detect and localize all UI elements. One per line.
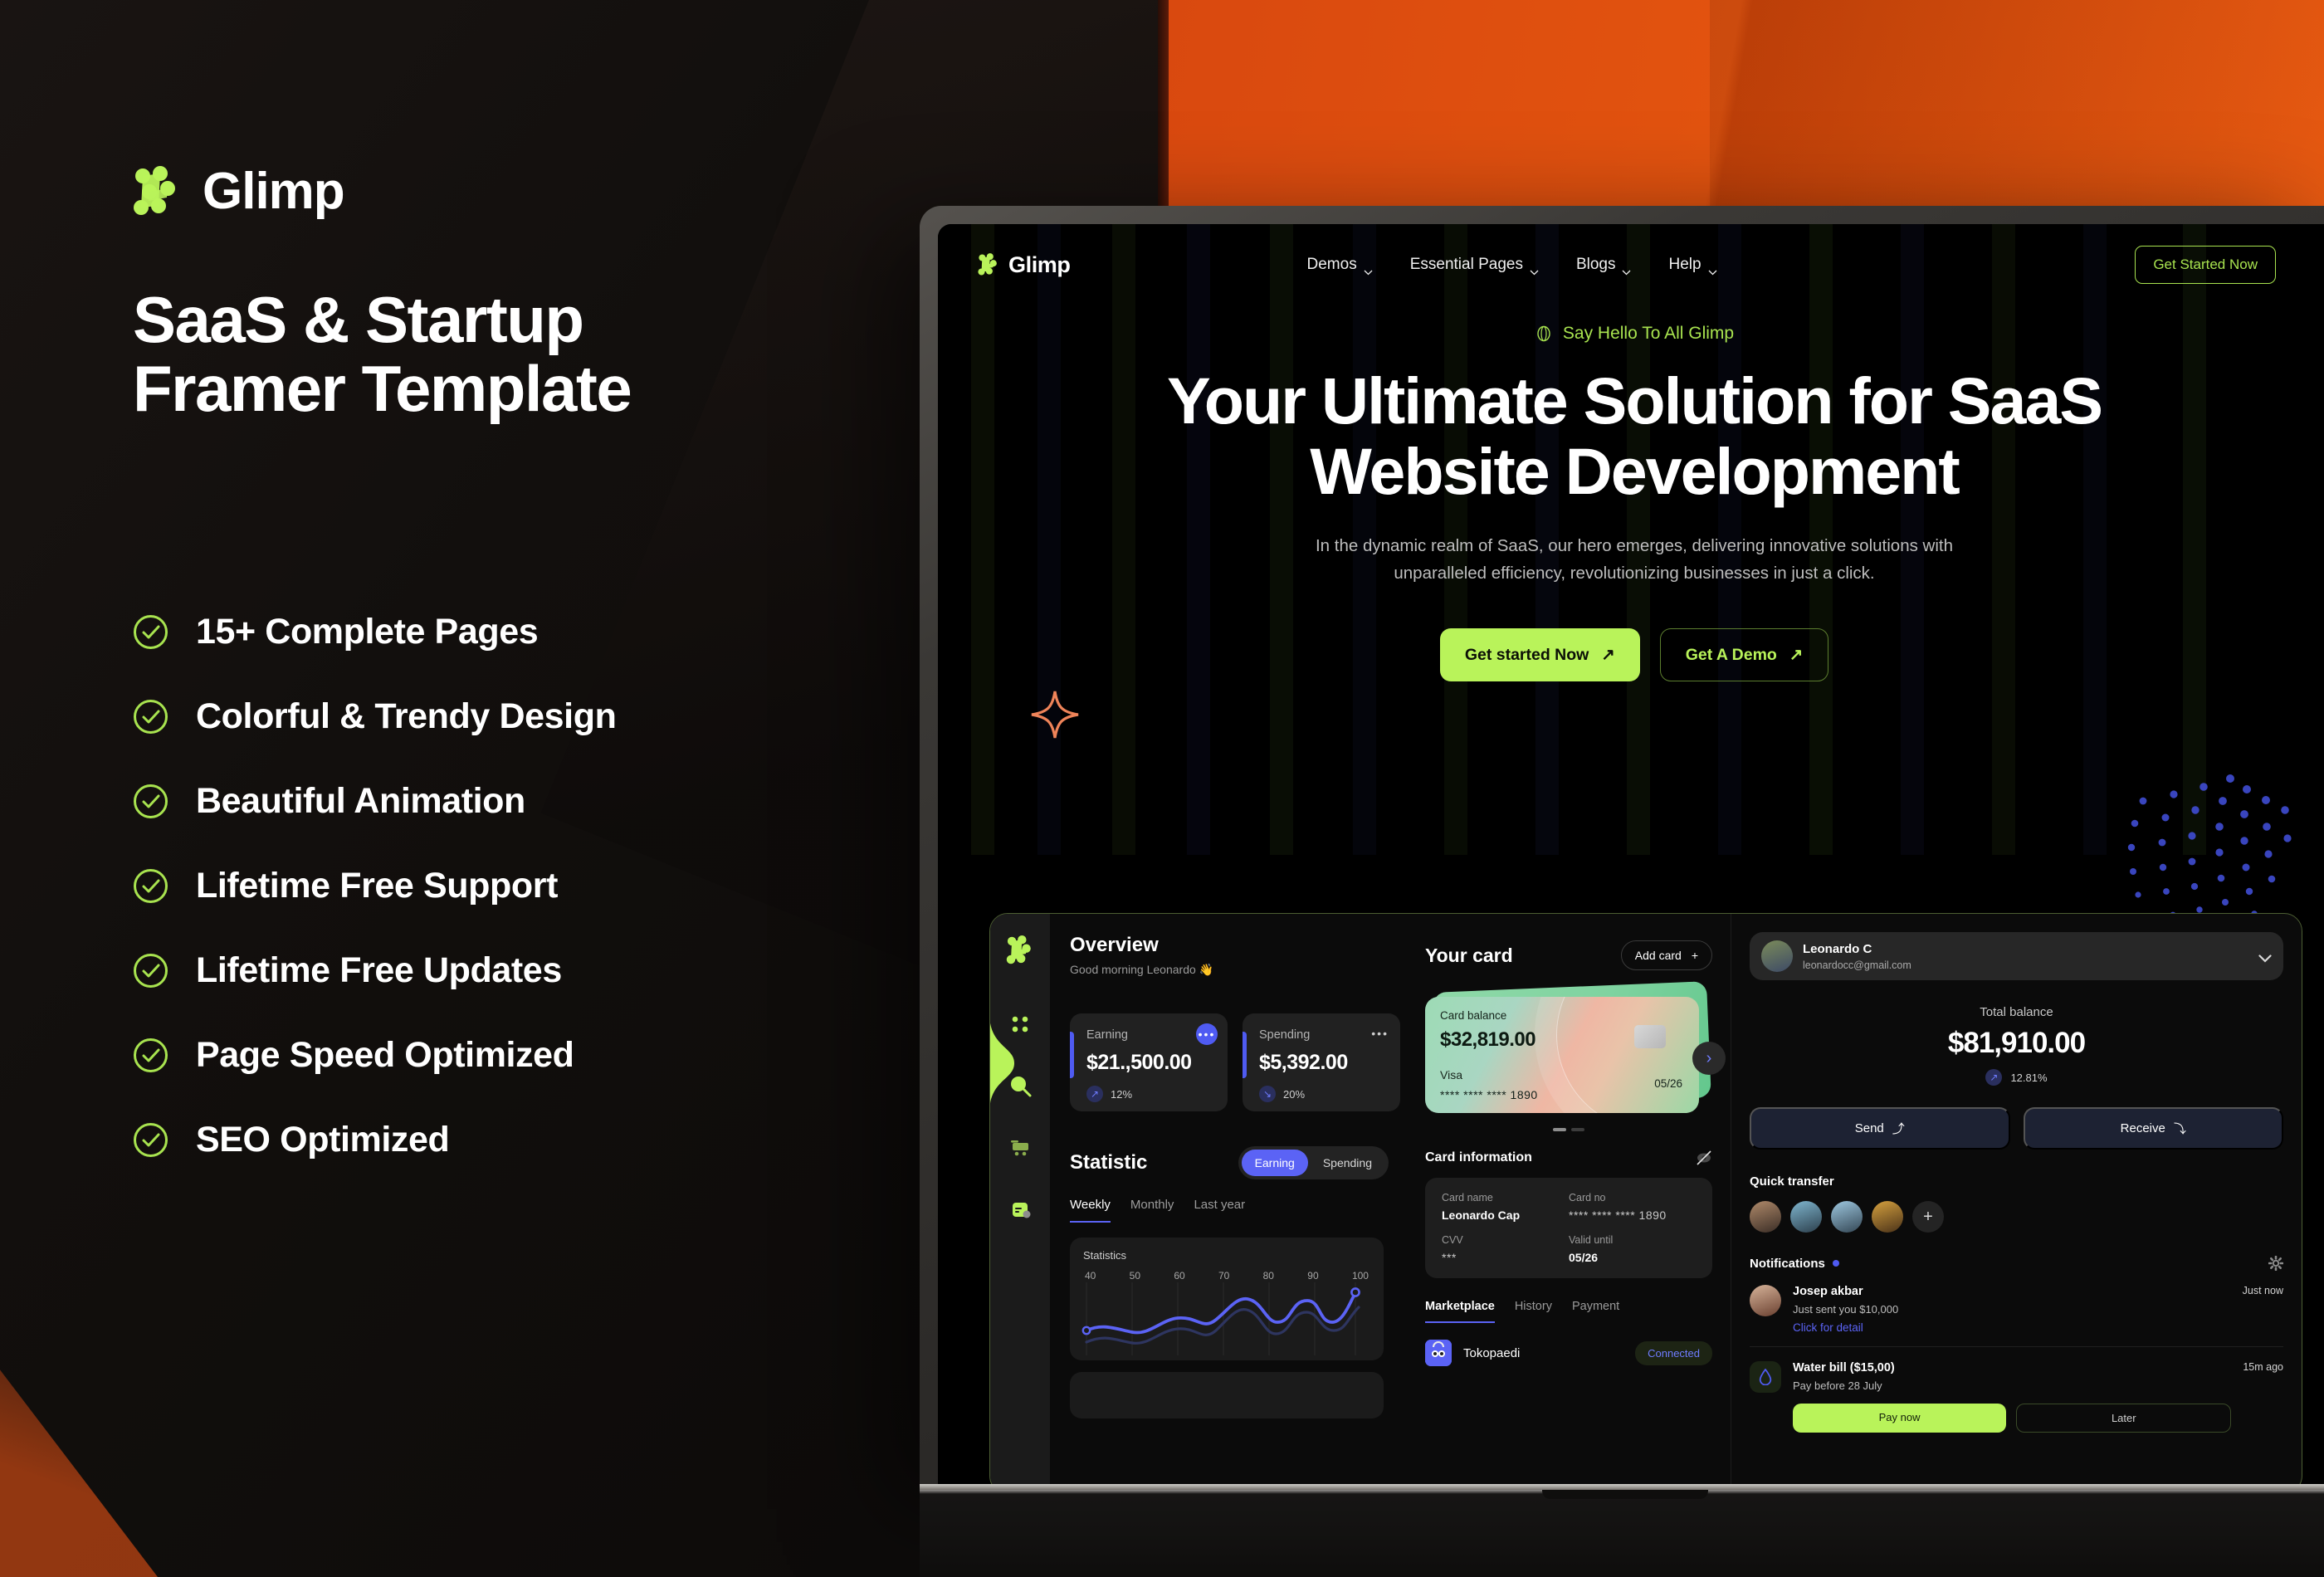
card-balance-value: $32,819.00: [1440, 1028, 1684, 1052]
send-receive-actions: Send ⤴ Receive ⤵: [1750, 1107, 2283, 1150]
button-label: Receive: [2121, 1121, 2165, 1135]
field-value: ***: [1442, 1251, 1569, 1264]
stat-value: $21.,500.00: [1086, 1051, 1214, 1075]
axis-tick: 60: [1174, 1270, 1184, 1282]
stat-label: Earning: [1086, 1028, 1214, 1042]
total-balance-delta: ↗ 12.81%: [1750, 1069, 2283, 1086]
headline-line-2: Framer Template: [133, 354, 963, 423]
notification-title: Josep akbar: [1793, 1285, 2231, 1298]
tab-last-year[interactable]: Last year: [1194, 1198, 1245, 1223]
stat-card-earning[interactable]: Earning ••• $21.,500.00 ↗ 12%: [1070, 1013, 1228, 1111]
overview-greeting: Good morning Leonardo 👋: [1070, 963, 1407, 977]
list-item: Lifetime Free Support: [133, 866, 963, 906]
feature-label: Beautiful Animation: [196, 781, 525, 822]
button-label: Send: [1855, 1121, 1884, 1135]
nav-item-label: Blogs: [1576, 256, 1616, 274]
credit-card[interactable]: Card balance $32,819.00 Visa **** **** *…: [1425, 997, 1699, 1113]
hero-title: Your Ultimate Solution for SaaS Website …: [938, 365, 2324, 507]
arrow-up-right-icon: ↗: [1086, 1086, 1103, 1102]
check-circle-icon: [133, 1037, 168, 1073]
list-item[interactable]: Tokopaedi Connected: [1425, 1340, 1712, 1366]
later-button[interactable]: Later: [2016, 1404, 2231, 1433]
credit-card-carousel: Card balance $32,819.00 Visa **** **** *…: [1425, 990, 1712, 1115]
nav-item-label: Demos: [1307, 256, 1357, 274]
field-value: Leonardo Cap: [1442, 1208, 1569, 1222]
axis-tick: 80: [1263, 1270, 1274, 1282]
field-valid-until: Valid until 05/26: [1569, 1234, 1696, 1264]
arrow-down-right-icon: ↘: [1259, 1086, 1276, 1102]
field-key: Valid until: [1569, 1234, 1696, 1246]
carousel-dot[interactable]: [1571, 1128, 1584, 1131]
delta-value: 12.81%: [2010, 1072, 2047, 1084]
tab-payment[interactable]: Payment: [1572, 1300, 1619, 1323]
orange-panel: [1169, 0, 2324, 214]
field-key: Card no: [1569, 1192, 1696, 1203]
status-badge: Connected: [1635, 1341, 1712, 1365]
stat-delta: ↗ 12%: [1086, 1086, 1214, 1102]
axis-tick: 40: [1085, 1270, 1096, 1282]
hero-eyebrow-label: Say Hello To All Glimp: [1563, 324, 1734, 344]
nav-item-label: Essential Pages: [1410, 256, 1523, 274]
wallet-icon[interactable]: [1008, 1196, 1033, 1221]
axis-tick: 90: [1307, 1270, 1318, 1282]
field-key: CVV: [1442, 1234, 1569, 1246]
statistics-chart: Statistics 40 50 60 70 80 90 100: [1070, 1238, 1384, 1360]
pay-now-button[interactable]: Pay now: [1793, 1404, 2006, 1433]
button-label: Get A Demo: [1686, 646, 1777, 665]
avatar: [1750, 1285, 1781, 1316]
list-item: Lifetime Free Updates: [133, 950, 963, 991]
card-information-title: Card information: [1425, 1150, 1532, 1165]
list-item: SEO Optimized: [133, 1120, 963, 1160]
hero-title-line-2: Website Development: [938, 436, 2324, 506]
list-item: 15+ Complete Pages: [133, 612, 963, 652]
stat-delta: ↘ 20%: [1259, 1086, 1387, 1102]
statistic-tabs: Weekly Monthly Last year: [1070, 1198, 1407, 1223]
check-circle-icon: [133, 614, 168, 650]
glimp-logo-icon: [978, 253, 999, 276]
field-card-name: Card name Leonardo Cap: [1442, 1192, 1569, 1222]
statistic-header: Statistic Earning Spending: [1070, 1146, 1407, 1179]
avatar[interactable]: [1790, 1201, 1822, 1233]
field-value: 05/26: [1569, 1251, 1696, 1264]
dashboard-app: Overview Good morning Leonardo 👋 Earning…: [989, 913, 2302, 1484]
check-circle-icon: [133, 1122, 168, 1158]
poster-stage: Glimp SaaS & Startup Framer Template 15+…: [0, 0, 2324, 1577]
navbar-brand-name: Glimp: [1008, 252, 1071, 278]
your-card-title: Your card: [1425, 945, 1513, 967]
nav-item-label: Help: [1668, 256, 1701, 274]
avatar: [1761, 940, 1793, 972]
water-drop-icon: [1750, 1361, 1781, 1393]
stat-card-spending[interactable]: Spending ••• $5,392.00 ↘ 20%: [1243, 1013, 1400, 1111]
feature-label: Colorful & Trendy Design: [196, 696, 616, 737]
right-panel: Leonardo C leonardocc@gmail.com Total ba…: [1731, 914, 2302, 1484]
stat-value: $5,392.00: [1259, 1051, 1387, 1075]
glimp-logo-icon: [133, 166, 181, 217]
hero-section: Say Hello To All Glimp Your Ultimate Sol…: [938, 324, 2324, 681]
hero-title-line-1: Your Ultimate Solution for SaaS: [938, 365, 2324, 436]
feature-label: Page Speed Optimized: [196, 1035, 574, 1076]
eye-off-icon[interactable]: [1696, 1150, 1712, 1166]
receive-button[interactable]: Receive ⤵: [2024, 1107, 2284, 1150]
marketplace-name: Tokopaedi: [1463, 1346, 1520, 1360]
overview-stat-cards: Earning ••• $21.,500.00 ↗ 12% Spending: [1070, 1013, 1407, 1111]
chart-plot: [1077, 1282, 1367, 1355]
brand-name: Glimp: [203, 166, 344, 217]
profile-name: Leonardo C: [1803, 942, 1872, 956]
download-icon: ⤵: [2174, 1120, 2186, 1137]
next-card-button[interactable]: ›: [1692, 1042, 1726, 1075]
card-information-header: Card information: [1425, 1150, 1712, 1166]
quick-transfer-contacts: +: [1750, 1201, 2283, 1233]
tab-weekly[interactable]: Weekly: [1070, 1198, 1111, 1223]
check-circle-icon: [133, 784, 168, 819]
total-balance-label: Total balance: [1750, 1005, 2283, 1019]
field-key: Card name: [1442, 1192, 1569, 1203]
chevron-down-icon: [1530, 262, 1539, 268]
sidebar-active-indicator: [989, 1013, 1014, 1113]
avatar[interactable]: [1831, 1201, 1863, 1233]
carousel-dots[interactable]: [1425, 1128, 1712, 1131]
chart-x-axis: 40 50 60 70 80 90 100: [1083, 1270, 1370, 1282]
profile-email: leonardocc@gmail.com: [1803, 959, 1911, 971]
avatar[interactable]: [1750, 1201, 1781, 1233]
tab-marketplace[interactable]: Marketplace: [1425, 1300, 1495, 1323]
notification-time: 15m ago: [2243, 1361, 2283, 1433]
dashboard-sidebar: [990, 914, 1050, 1484]
navbar-links: Demos Essential Pages Blogs Help: [1307, 256, 1717, 274]
hero-subtitle: In the dynamic realm of SaaS, our hero e…: [1306, 532, 1962, 587]
carousel-dot[interactable]: [1553, 1128, 1566, 1131]
marketing-column: Glimp SaaS & Startup Framer Template 15+…: [133, 166, 963, 1160]
list-item: Page Speed Optimized: [133, 1035, 963, 1076]
notification-link[interactable]: Click for detail: [1793, 1321, 2231, 1334]
cart-icon[interactable]: [1008, 1135, 1033, 1160]
get-started-now-button[interactable]: Get Started Now: [2135, 246, 2276, 284]
card-brand: Visa: [1440, 1068, 1462, 1081]
glimp-logo-icon: [1006, 935, 1034, 965]
feature-label: SEO Optimized: [196, 1120, 449, 1160]
field-card-no: Card no **** **** **** 1890: [1569, 1192, 1696, 1222]
more-options-icon[interactable]: •••: [1371, 1027, 1389, 1040]
laptop-mockup: Glimp Demos Essential Pages Blogs: [920, 206, 2324, 1577]
get-a-demo-button[interactable]: Get A Demo ↗: [1660, 628, 1829, 681]
notification-item[interactable]: Water bill ($15,00) Pay before 28 July P…: [1750, 1361, 2283, 1445]
list-item: Beautiful Animation: [133, 781, 963, 822]
stat-label: Spending: [1259, 1028, 1387, 1042]
statistic-toggle[interactable]: Earning Spending: [1238, 1146, 1389, 1179]
nav-item-demos[interactable]: Demos: [1307, 256, 1373, 274]
laptop-screen: Glimp Demos Essential Pages Blogs: [938, 224, 2324, 1484]
stat-delta-value: 20%: [1283, 1088, 1305, 1101]
dashboard-main: Overview Good morning Leonardo 👋 Earning…: [1050, 914, 2302, 1484]
check-circle-icon: [133, 868, 168, 904]
add-card-button[interactable]: Add card +: [1621, 940, 1712, 970]
card-balance-label: Card balance: [1440, 1009, 1684, 1022]
site-navbar: Glimp Demos Essential Pages Blogs: [938, 224, 2324, 305]
check-circle-icon: [133, 953, 168, 989]
axis-tick: 70: [1218, 1270, 1229, 1282]
laptop-base: [920, 1484, 2324, 1577]
notification-description: Pay before 28 July: [1793, 1379, 2231, 1392]
nav-item-blogs[interactable]: Blogs: [1576, 256, 1632, 274]
field-cvv: CVV ***: [1442, 1234, 1569, 1264]
headline-line-1: SaaS & Startup: [133, 286, 963, 354]
page-title: SaaS & Startup Framer Template: [133, 286, 963, 422]
nav-item-help[interactable]: Help: [1668, 256, 1716, 274]
stat-delta-value: 12%: [1111, 1088, 1132, 1101]
button-label: Add card: [1635, 949, 1682, 962]
orange-panel-edge: [1158, 0, 1169, 214]
notifications-header: Notifications: [1750, 1256, 2283, 1271]
profile-selector[interactable]: Leonardo C leonardocc@gmail.com: [1750, 932, 2283, 980]
feature-label: Lifetime Free Updates: [196, 950, 562, 991]
send-button[interactable]: Send ⤴: [1750, 1107, 2010, 1150]
statistic-title: Statistic: [1070, 1151, 1147, 1174]
hero-eyebrow: Say Hello To All Glimp: [1535, 324, 1734, 344]
more-options-icon[interactable]: •••: [1196, 1023, 1218, 1045]
notification-time: Just now: [2243, 1285, 2283, 1334]
nav-item-essential-pages[interactable]: Essential Pages: [1410, 256, 1539, 274]
sparkle-icon: [1029, 689, 1081, 740]
list-item: Colorful & Trendy Design: [133, 696, 963, 737]
arrow-up-right-icon: ↗: [1985, 1069, 2002, 1086]
chevron-down-icon: [1622, 262, 1631, 268]
button-label: Get started Now: [1465, 646, 1589, 665]
arrow-up-right-icon: ↗: [1789, 645, 1803, 665]
coin-icon: [1535, 325, 1553, 343]
field-value: **** **** **** 1890: [1569, 1208, 1696, 1222]
tokopaedi-icon: [1425, 1340, 1452, 1366]
notifications-title: Notifications: [1750, 1257, 1825, 1271]
card-chip-icon: [1634, 1025, 1666, 1048]
navbar-brand[interactable]: Glimp: [978, 252, 1071, 278]
card-expiry: 05/26: [1654, 1077, 1682, 1090]
avatar[interactable]: [1872, 1201, 1903, 1233]
gear-icon[interactable]: [2268, 1256, 2283, 1271]
chevron-down-icon: [1708, 262, 1717, 268]
chart-title: Statistics: [1083, 1249, 1370, 1262]
axis-tick: 50: [1130, 1270, 1140, 1282]
axis-tick: 100: [1352, 1270, 1369, 1282]
feature-label: 15+ Complete Pages: [196, 612, 538, 652]
chevron-down-icon: [1364, 262, 1373, 268]
toggle-option-earning[interactable]: Earning: [1242, 1150, 1308, 1176]
notification-item[interactable]: Josep akbar Just sent you $10,000 Click …: [1750, 1285, 2283, 1347]
upload-icon: ⤴: [1892, 1120, 1905, 1137]
feature-label: Lifetime Free Support: [196, 866, 558, 906]
brand-lockup: Glimp: [133, 166, 963, 217]
quick-transfer-title: Quick transfer: [1750, 1174, 2283, 1189]
notification-title: Water bill ($15,00): [1793, 1361, 2231, 1374]
hero-actions: Get started Now ↗ Get A Demo ↗: [938, 628, 2324, 681]
card-information-box: Card name Leonardo Cap Card no **** ****…: [1425, 1178, 1712, 1278]
marketplace-tabs: Marketplace History Payment: [1425, 1300, 1712, 1323]
get-started-now-hero-button[interactable]: Get started Now ↗: [1440, 628, 1640, 681]
your-card-header: Your card Add card +: [1425, 940, 1712, 970]
your-card-column: Your card Add card + Card balance $32,81…: [1407, 914, 1731, 1484]
toggle-option-spending[interactable]: Spending: [1310, 1150, 1385, 1176]
overview-title: Overview: [1070, 934, 1407, 957]
arrow-up-right-icon: ↗: [1601, 645, 1614, 665]
check-circle-icon: [133, 699, 168, 735]
notification-description: Just sent you $10,000: [1793, 1303, 2231, 1316]
plus-icon: +: [1692, 949, 1698, 962]
add-contact-button[interactable]: +: [1912, 1201, 1944, 1233]
card-number: **** **** **** 1890: [1440, 1088, 1538, 1101]
unread-indicator: [1833, 1260, 1839, 1267]
statistics-secondary-card: [1070, 1372, 1384, 1418]
total-balance-value: $81,910.00: [1750, 1027, 2283, 1060]
chevron-down-icon[interactable]: [2258, 952, 2272, 960]
overview-column: Overview Good morning Leonardo 👋 Earning…: [1050, 914, 1407, 1484]
feature-list: 15+ Complete Pages Colorful & Trendy Des…: [133, 612, 963, 1160]
tab-monthly[interactable]: Monthly: [1130, 1198, 1174, 1223]
tab-history[interactable]: History: [1515, 1300, 1552, 1323]
